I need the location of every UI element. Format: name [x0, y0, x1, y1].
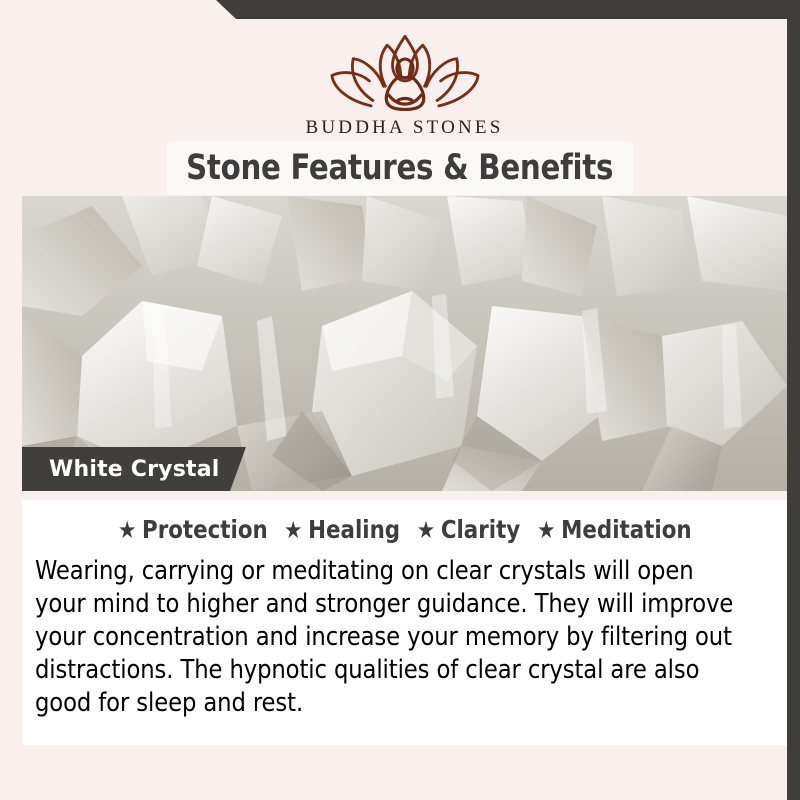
benefit-label: Meditation — [561, 515, 691, 544]
content-panel: ★ Protection ★ Healing ★ Clarity ★ Medit… — [22, 491, 787, 745]
benefit-item-clarity: ★ Clarity — [412, 515, 525, 544]
description-paragraph: Wearing, carrying or meditating on clear… — [35, 555, 745, 720]
stone-name-label: White Crystal — [22, 457, 220, 482]
infographic-card: BUDDHA STONES Stone Features & Benefits — [0, 0, 800, 800]
benefit-item-protection: ★ Protection — [113, 515, 272, 544]
brand-name: BUDDHA STONES — [22, 117, 787, 139]
benefit-item-meditation: ★ Meditation — [532, 515, 696, 544]
benefits-list: ★ Protection ★ Healing ★ Clarity ★ Medit… — [22, 515, 787, 544]
frame-right-bar — [787, 0, 800, 800]
star-icon: ★ — [416, 518, 434, 542]
benefit-label: Healing — [309, 515, 401, 544]
star-icon: ★ — [285, 518, 303, 542]
page-title: Stone Features & Benefits — [186, 148, 613, 188]
benefit-label: Protection — [142, 515, 268, 544]
star-icon: ★ — [118, 518, 136, 542]
stone-name-badge: White Crystal — [22, 447, 246, 491]
title-band: Stone Features & Benefits — [167, 141, 633, 195]
lotus-meditation-figure-icon — [315, 31, 495, 113]
content-top-divider — [22, 491, 787, 500]
white-crystal-cluster-photo — [22, 196, 787, 491]
star-icon: ★ — [537, 518, 555, 542]
benefit-label: Clarity — [440, 515, 519, 544]
benefit-item-healing: ★ Healing — [280, 515, 406, 544]
